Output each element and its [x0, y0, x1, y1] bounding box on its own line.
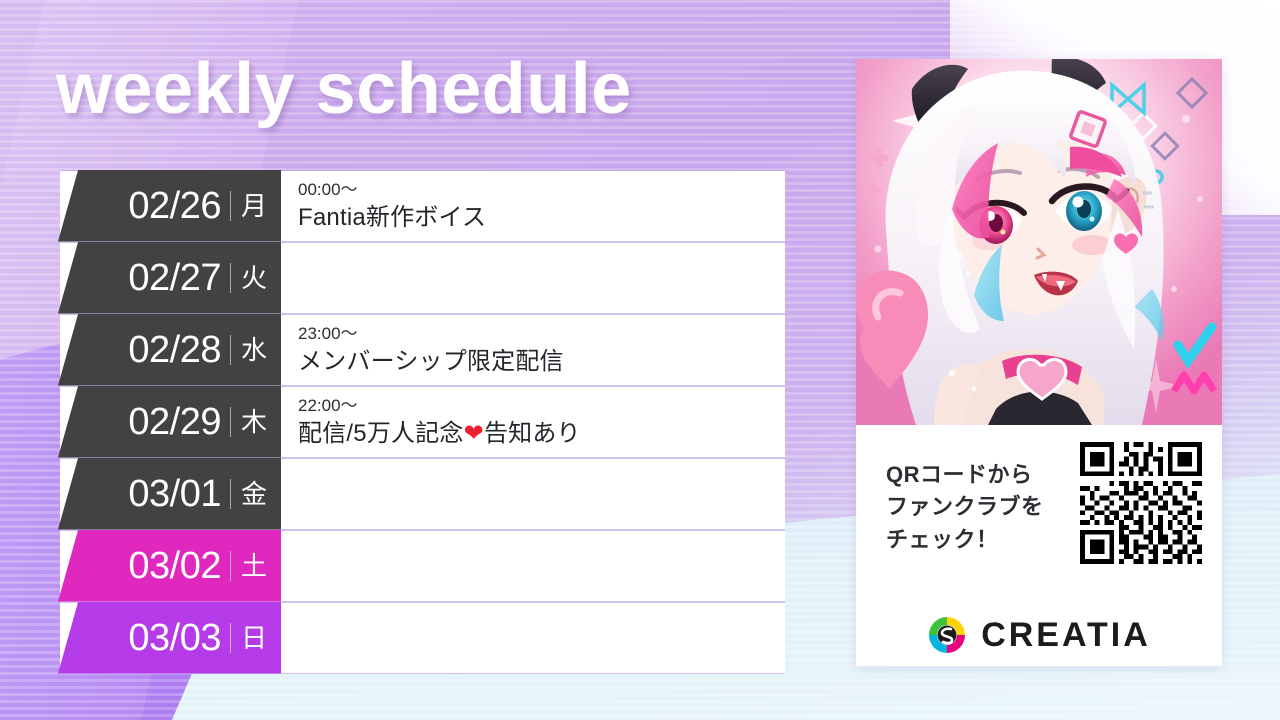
badge-weekday: 木: [241, 409, 267, 435]
event-title-pre: 配信/5万人記念: [298, 420, 464, 447]
qr-caption: QRコードから ファンクラブを チェック！: [856, 459, 1056, 557]
date-badge-friday: 03/01 金: [58, 458, 281, 530]
qr-code-icon[interactable]: [1080, 442, 1202, 564]
badge-date: 02/26: [128, 187, 221, 225]
schedule-row: 02/27 火: [60, 242, 785, 314]
row-content: [298, 530, 785, 602]
event-title: メンバーシップ限定配信: [298, 346, 785, 377]
row-content: 22:00〜 配信/5万人記念❤告知あり: [298, 386, 785, 458]
badge-date: 03/01: [128, 475, 221, 513]
schedule-row: 03/02 土: [60, 530, 785, 602]
row-content: [298, 602, 785, 674]
promo-card: QRコードから ファンクラブを チェック！: [856, 59, 1222, 666]
badge-weekday: 日: [241, 625, 267, 651]
badge-weekday: 金: [241, 481, 267, 507]
character-artwork: [856, 59, 1222, 425]
event-time: 23:00〜: [298, 322, 785, 347]
row-content: 23:00〜 メンバーシップ限定配信: [298, 314, 785, 386]
badge-separator: [230, 479, 231, 509]
qr-caption-line1: QRコードから: [886, 459, 1056, 492]
event-title: 配信/5万人記念❤告知あり: [298, 418, 785, 449]
page-title: weekly schedule: [56, 48, 632, 130]
badge-weekday: 火: [241, 265, 267, 291]
schedule-list: 02/26 月 00:00〜 Fantia新作ボイス 02/27 火 02/28…: [60, 170, 785, 674]
event-time: 00:00〜: [298, 178, 785, 203]
event-time: 22:00〜: [298, 394, 785, 419]
character-illustration: [856, 59, 1222, 425]
badge-separator: [230, 335, 231, 365]
date-badge-monday: 02/26 月: [58, 170, 281, 242]
badge-date: 02/29: [128, 403, 221, 441]
date-badge-saturday: 03/02 土: [58, 530, 281, 602]
schedule-row: 03/03 日: [60, 602, 785, 674]
badge-weekday: 水: [241, 337, 267, 363]
row-content: 00:00〜 Fantia新作ボイス: [298, 170, 785, 242]
badge-separator: [230, 263, 231, 293]
date-badge-tuesday: 02/27 火: [58, 242, 281, 314]
badge-weekday: 土: [241, 553, 267, 579]
row-content: [298, 242, 785, 314]
badge-date: 03/03: [128, 619, 221, 657]
qr-caption-line3: チェック！: [886, 524, 1056, 557]
creatia-logo: CREATIA: [856, 604, 1222, 666]
heart-icon: ❤: [464, 420, 484, 447]
qr-caption-line2: ファンクラブを: [886, 491, 1056, 524]
badge-separator: [230, 551, 231, 581]
qr-section: QRコードから ファンクラブを チェック！: [856, 425, 1222, 590]
creatia-mark-icon: [927, 615, 967, 655]
schedule-row: 02/29 木 22:00〜 配信/5万人記念❤告知あり: [60, 386, 785, 458]
event-title-post: 告知あり: [484, 420, 581, 447]
badge-separator: [230, 191, 231, 221]
badge-separator: [230, 407, 231, 437]
date-badge-wednesday: 02/28 水: [58, 314, 281, 386]
event-title: Fantia新作ボイス: [298, 202, 785, 233]
badge-date: 02/27: [128, 259, 221, 297]
date-badge-sunday: 03/03 日: [58, 602, 281, 674]
row-content: [298, 458, 785, 530]
badge-separator: [230, 623, 231, 653]
badge-weekday: 月: [241, 193, 267, 219]
schedule-row: 02/26 月 00:00〜 Fantia新作ボイス: [60, 170, 785, 242]
date-badge-thursday: 02/29 木: [58, 386, 281, 458]
creatia-logo-text: CREATIA: [981, 616, 1151, 655]
schedule-row: 03/01 金: [60, 458, 785, 530]
badge-date: 02/28: [128, 331, 221, 369]
badge-date: 03/02: [128, 547, 221, 585]
schedule-row: 02/28 水 23:00〜 メンバーシップ限定配信: [60, 314, 785, 386]
